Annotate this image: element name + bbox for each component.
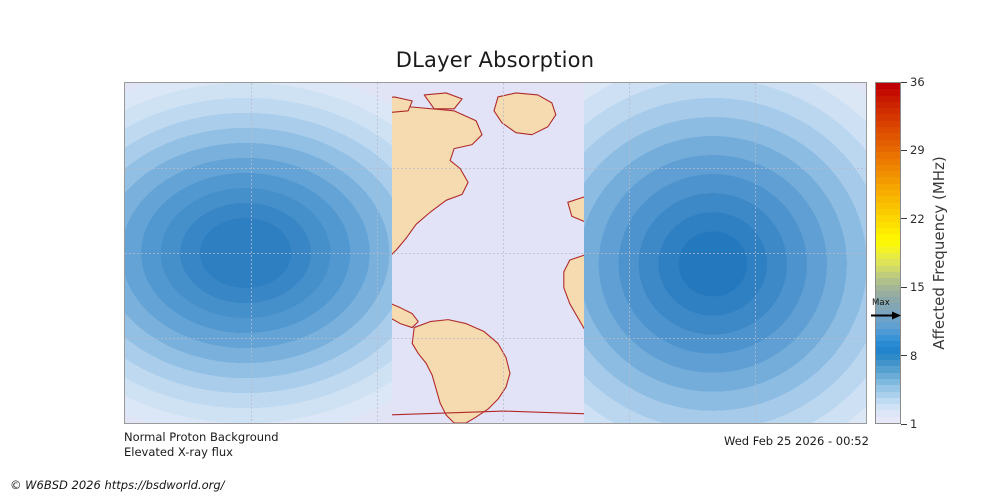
world-map[interactable] <box>124 82 867 424</box>
gridline-lon-1 <box>251 83 252 423</box>
gridline-lon-2 <box>377 83 378 423</box>
figure-canvas: DLayer Absorption <box>0 0 1000 500</box>
colorbar-tick-value: 36 <box>910 75 925 89</box>
copyright-notice: © W6BSD 2026 https://bsdworld.org/ <box>10 478 225 492</box>
max-marker-label: Max <box>872 298 890 308</box>
colorbar-tick-dash <box>901 424 907 425</box>
colorbar-tick: 1 <box>901 417 917 431</box>
max-arrow-icon <box>871 311 901 320</box>
colorbar-tick: 29 <box>901 143 925 157</box>
colorbar-tick-value: 15 <box>910 280 925 294</box>
colorbar-tick-value: 1 <box>910 417 917 431</box>
colorbar-tick-dash <box>901 218 907 219</box>
colorbar-tick-value: 22 <box>910 212 925 226</box>
colorbar-axis-label-text: Affected Frequency (MHz) <box>930 156 948 350</box>
colorbar-tick-dash <box>901 82 907 83</box>
colorbar-tick-dash <box>901 287 907 288</box>
status-line-proton: Normal Proton Background <box>124 430 279 444</box>
timestamp: Wed Feb 25 2026 - 00:52 <box>724 434 869 448</box>
colorbar-tick-value: 29 <box>910 143 925 157</box>
gridline-lon-3 <box>503 83 504 423</box>
colorbar-swatch <box>876 417 900 423</box>
colorbar-tick: 15 <box>901 280 925 294</box>
status-line-xray: Elevated X-ray flux <box>124 445 233 459</box>
colorbar[interactable] <box>875 82 901 424</box>
max-marker: Max <box>869 298 903 324</box>
colorbar-axis-label: Affected Frequency (MHz) <box>928 82 950 424</box>
gridline-lon-5 <box>755 83 756 423</box>
colorbar-tick: 8 <box>901 349 917 363</box>
page-title: DLayer Absorption <box>0 48 990 72</box>
colorbar-tick-dash <box>901 150 907 151</box>
colorbar-tick-dash <box>901 355 907 356</box>
graticule-layer <box>125 83 866 423</box>
gridline-lon-4 <box>629 83 630 423</box>
colorbar-tick-value: 8 <box>910 349 917 363</box>
colorbar-tick: 22 <box>901 212 925 226</box>
colorbar-tick: 36 <box>901 75 925 89</box>
